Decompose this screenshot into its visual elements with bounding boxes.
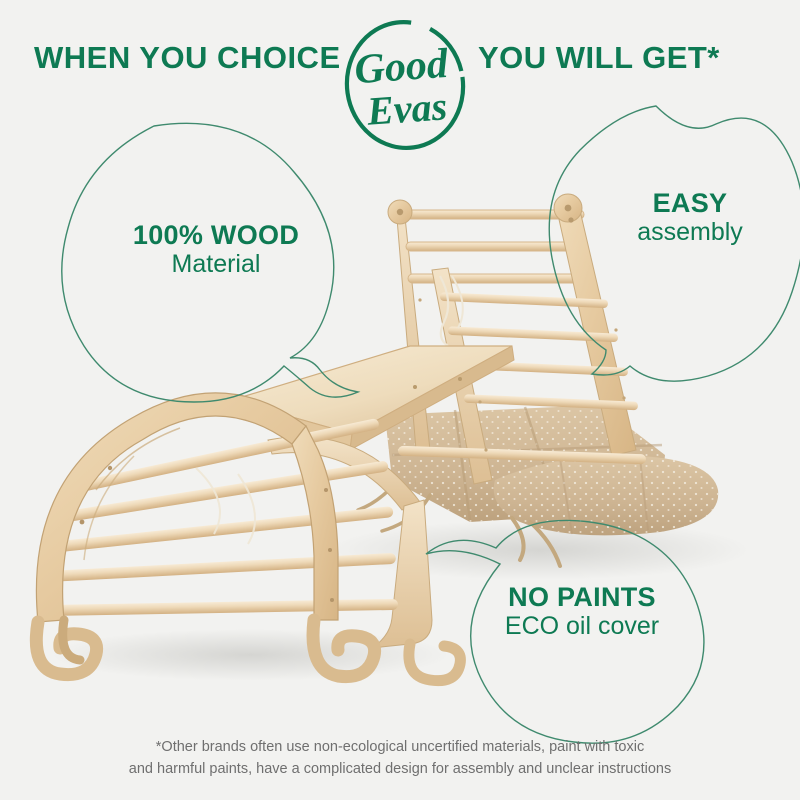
callout-paints-subtitle: ECO oil cover (452, 612, 712, 640)
callout-easy: EASY assembly (530, 100, 800, 400)
footnote: *Other brands often use non-ecological u… (0, 736, 800, 781)
callout-easy-subtitle: assembly (580, 218, 800, 246)
footnote-line-1: *Other brands often use non-ecological u… (0, 736, 800, 758)
headline-right: YOU WILL GET* (478, 40, 720, 76)
callout-paints-title: NO PAINTS (452, 582, 712, 612)
callout-wood-title: 100% WOOD (76, 220, 356, 250)
callout-easy-text: EASY assembly (580, 188, 800, 246)
headline-left: WHEN YOU CHOICE (34, 40, 341, 76)
callout-paints: NO PAINTS ECO oil cover (440, 520, 740, 750)
callout-wood-text: 100% WOOD Material (76, 220, 356, 278)
footnote-line-2: and harmful paints, have a complicated d… (0, 758, 800, 780)
callout-easy-title: EASY (580, 188, 800, 218)
callout-wood-subtitle: Material (76, 250, 356, 278)
poster-canvas: WHEN YOU CHOICE Good Evas YOU WILL GET* … (0, 0, 800, 800)
callout-paints-text: NO PAINTS ECO oil cover (452, 582, 712, 640)
logo-line-1: Good (353, 41, 450, 93)
callout-wood: 100% WOOD Material (58, 120, 378, 420)
